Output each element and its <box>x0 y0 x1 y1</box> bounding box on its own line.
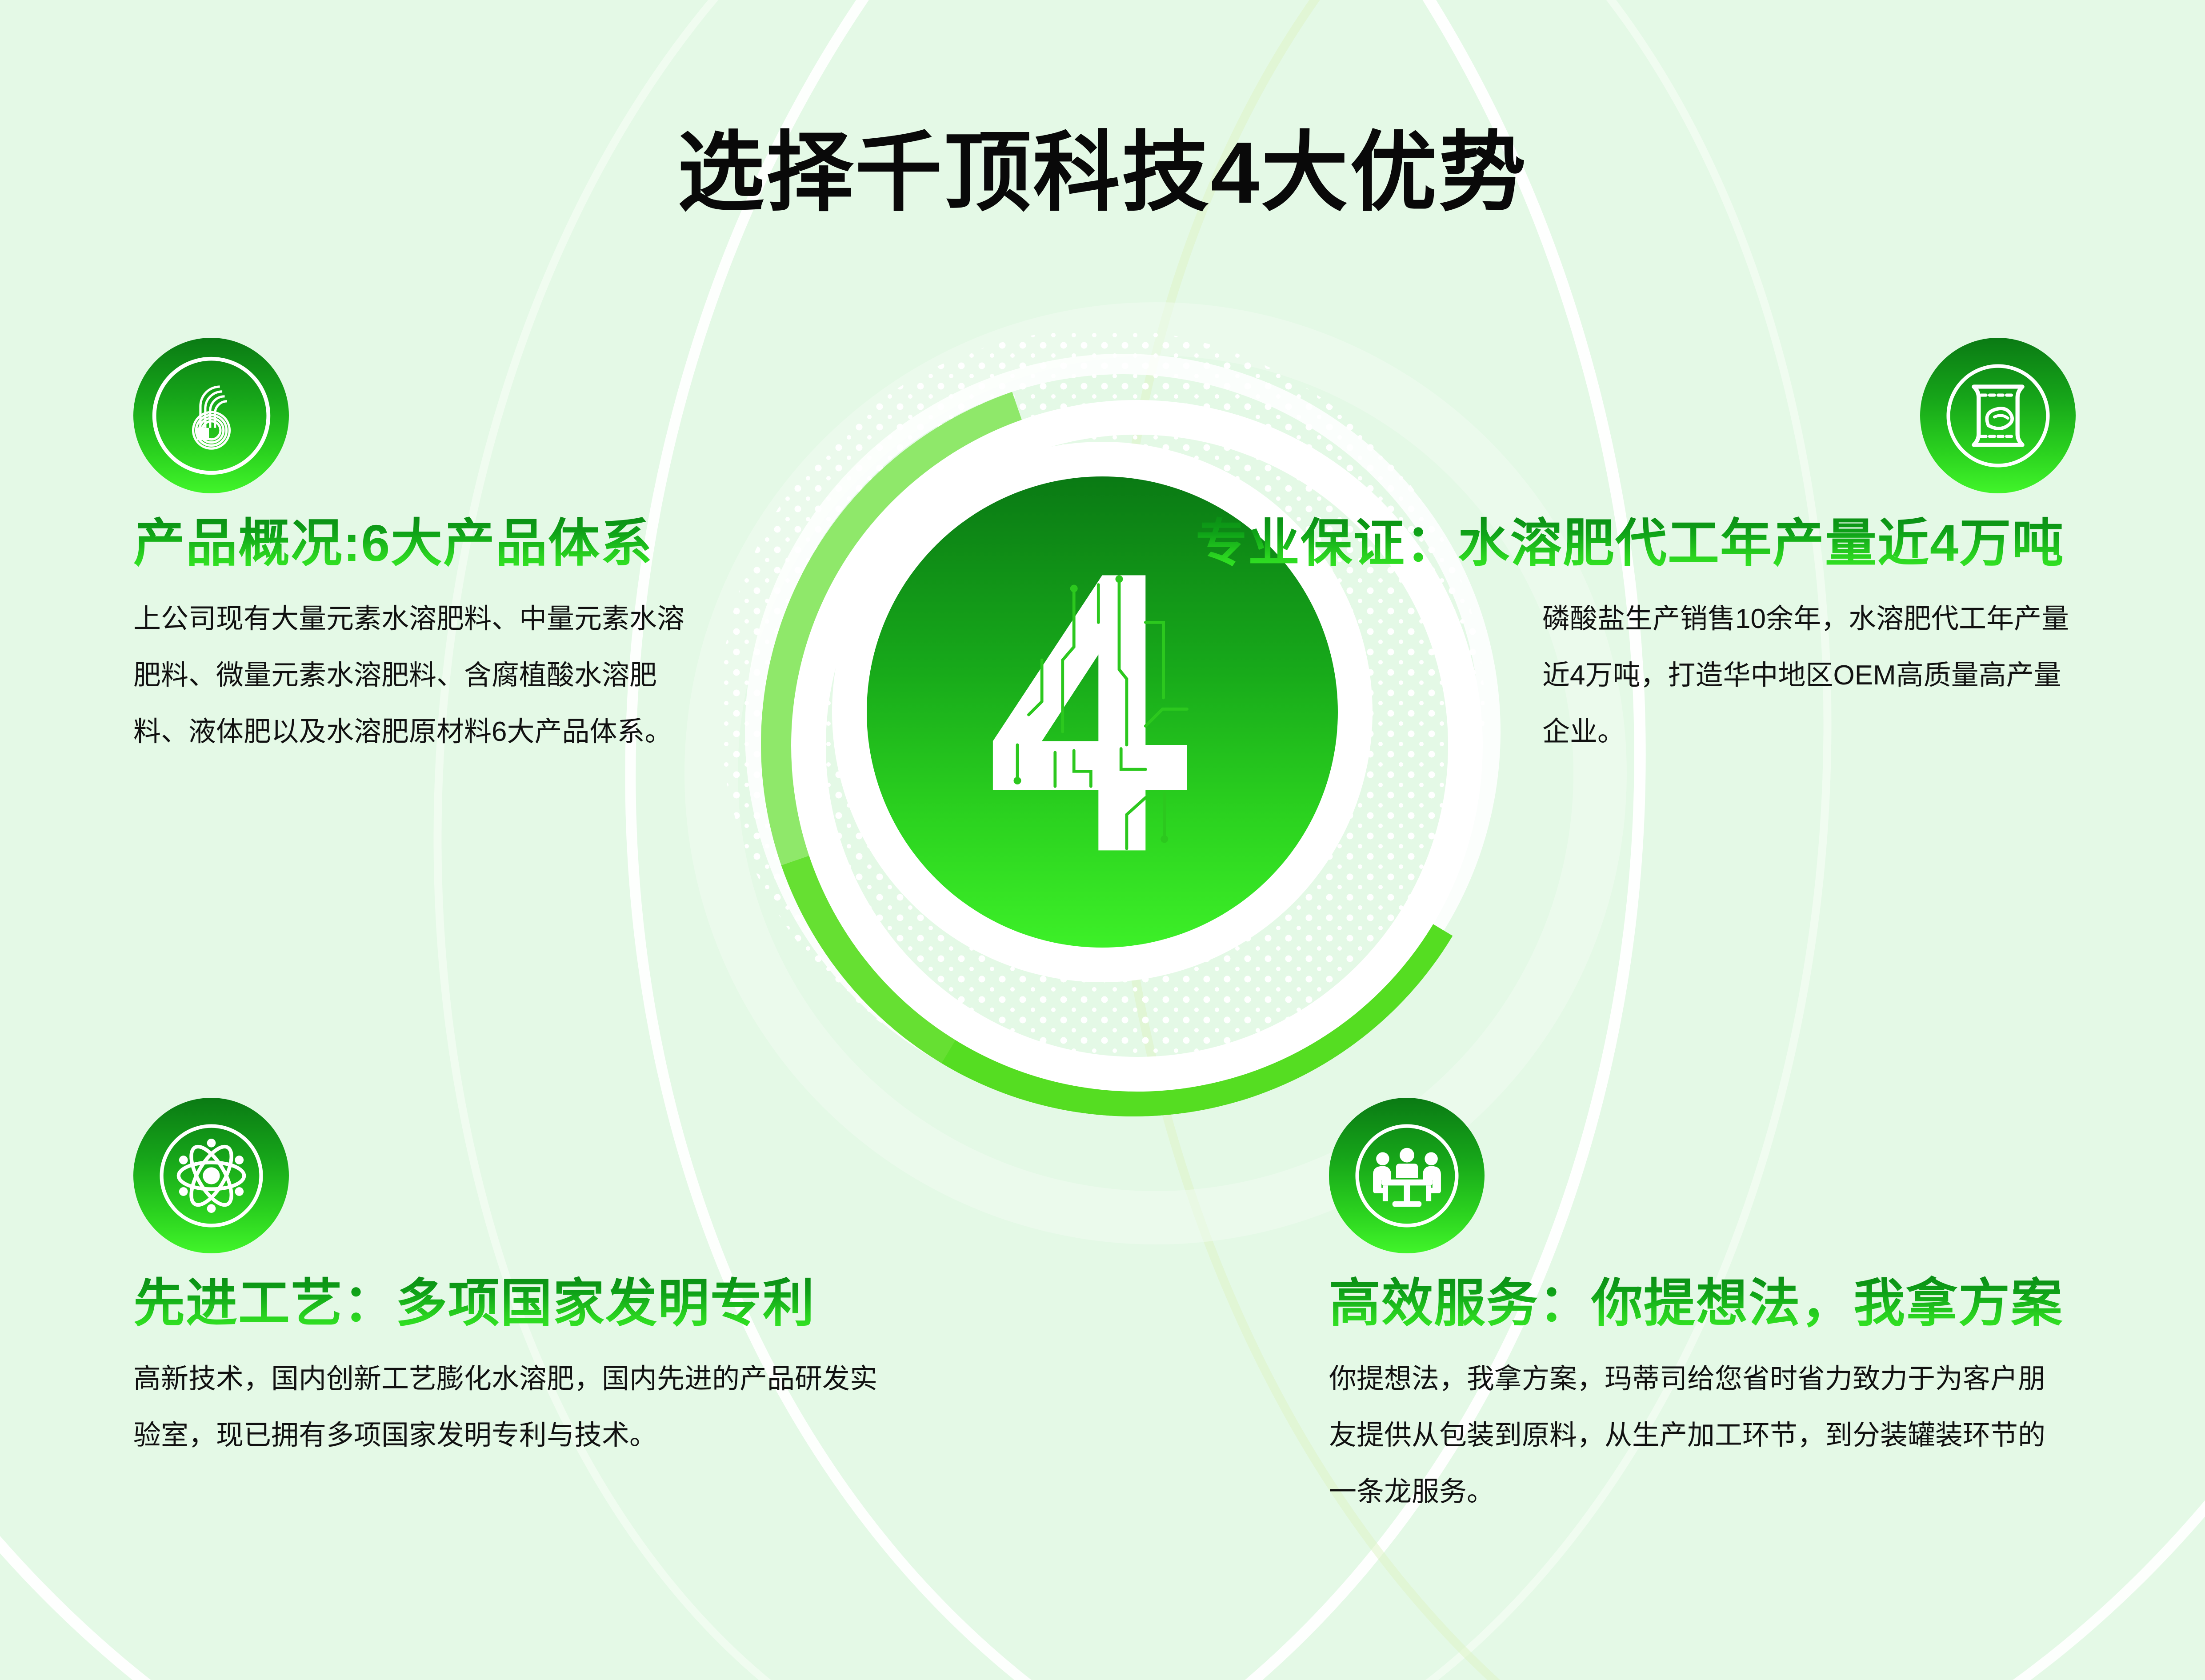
fertilizer-bag-icon <box>1920 338 2076 493</box>
advantage-card-bottom-right: 高效服务：你提想法，我拿方案 你提想法，我拿方案，玛蒂司给您省时省力致力于为客户… <box>1329 1098 2076 1520</box>
advantage-card-top-right: 专业保证：水溶肥代工年产量近4万吨 磷酸盐生产销售10余年，水溶肥代工年产量近4… <box>1196 338 2076 760</box>
advantage-heading: 高效服务：你提想法，我拿方案 <box>1329 1273 2076 1334</box>
advantage-heading: 先进工艺：多项国家发明专利 <box>133 1273 933 1334</box>
atom-icon <box>133 1098 289 1253</box>
infographic-canvas: 选择千顶科技4大优势 产品概况:6大产品体系 上公司现有大量元素水溶肥料、 <box>0 0 2205 1680</box>
advantage-body: 上公司现有大量元素水溶肥料、中量元素水溶肥料、微量元素水溶肥料、含腐植酸水溶肥料… <box>133 591 711 760</box>
meeting-team-icon <box>1329 1098 1485 1253</box>
page-title: 选择千顶科技4大优势 <box>0 102 2205 228</box>
advantage-body: 高新技术，国内创新工艺膨化水溶肥，国内先进的产品研发实验室，现已拥有多项国家发明… <box>133 1351 898 1464</box>
advantage-body: 磷酸盐生产销售10余年，水溶肥代工年产量近4万吨，打造华中地区OEM高质量高产量… <box>1542 591 2076 760</box>
advantage-card-top-left: 产品概况:6大产品体系 上公司现有大量元素水溶肥料、中量元素水溶肥料、微量元素水… <box>133 338 827 760</box>
advantage-card-bottom-left: 先进工艺：多项国家发明专利 高新技术，国内创新工艺膨化水溶肥，国内先进的产品研发… <box>133 1098 933 1464</box>
number-six-icon <box>133 338 289 493</box>
advantage-body: 你提想法，我拿方案，玛蒂司给您省时省力致力于为客户朋友提供从包装到原料，从生产加… <box>1329 1351 2058 1520</box>
advantage-heading: 专业保证：水溶肥代工年产量近4万吨 <box>1196 513 2076 574</box>
advantage-heading: 产品概况:6大产品体系 <box>133 513 827 574</box>
